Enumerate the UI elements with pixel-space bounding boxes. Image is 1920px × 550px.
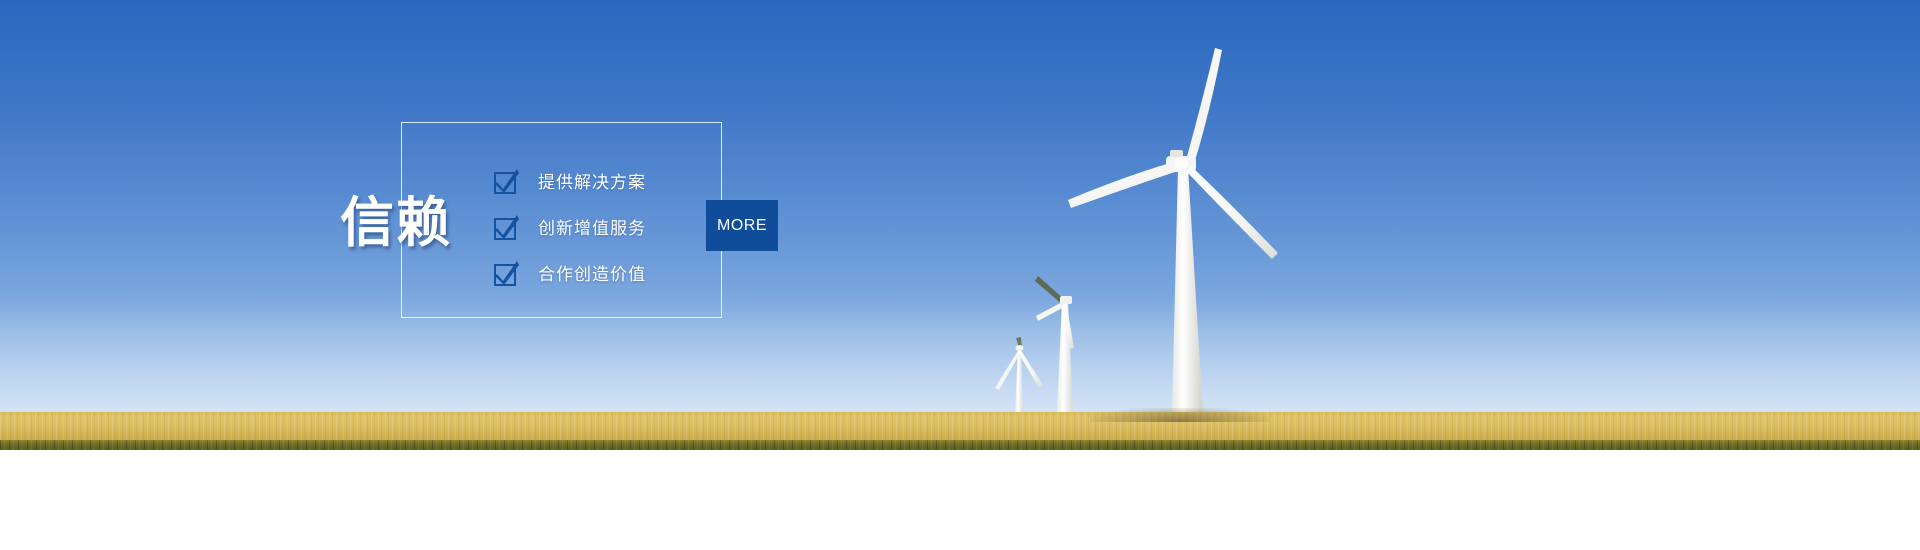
checkbox-checked-icon bbox=[494, 218, 516, 240]
more-button[interactable]: MORE bbox=[706, 200, 778, 251]
checkbox-checked-icon bbox=[494, 264, 516, 286]
list-item: 合作创造价值 bbox=[494, 252, 724, 298]
turbine-mid bbox=[1035, 276, 1074, 414]
ground-mound bbox=[1090, 408, 1270, 422]
grass-strip-texture bbox=[0, 440, 1920, 450]
page-title: 信赖 bbox=[340, 192, 470, 254]
turbine-far bbox=[995, 337, 1043, 414]
wheat-field bbox=[0, 412, 1920, 442]
hero-banner: 信赖 提供解决方案 创新增值服务 合 bbox=[0, 0, 1920, 550]
list-item-label: 合作创造价值 bbox=[538, 264, 646, 286]
feature-list: 提供解决方案 创新增值服务 合作创造价值 bbox=[494, 160, 724, 298]
list-item-label: 创新增值服务 bbox=[538, 218, 646, 240]
list-item: 创新增值服务 bbox=[494, 206, 724, 252]
checkbox-checked-icon bbox=[494, 172, 516, 194]
wheat-field-texture bbox=[0, 412, 1920, 442]
turbine-main bbox=[1068, 48, 1278, 414]
grass-strip bbox=[0, 440, 1920, 450]
list-item-label: 提供解决方案 bbox=[538, 172, 646, 194]
page-background-bottom bbox=[0, 450, 1920, 550]
list-item: 提供解决方案 bbox=[494, 160, 724, 206]
